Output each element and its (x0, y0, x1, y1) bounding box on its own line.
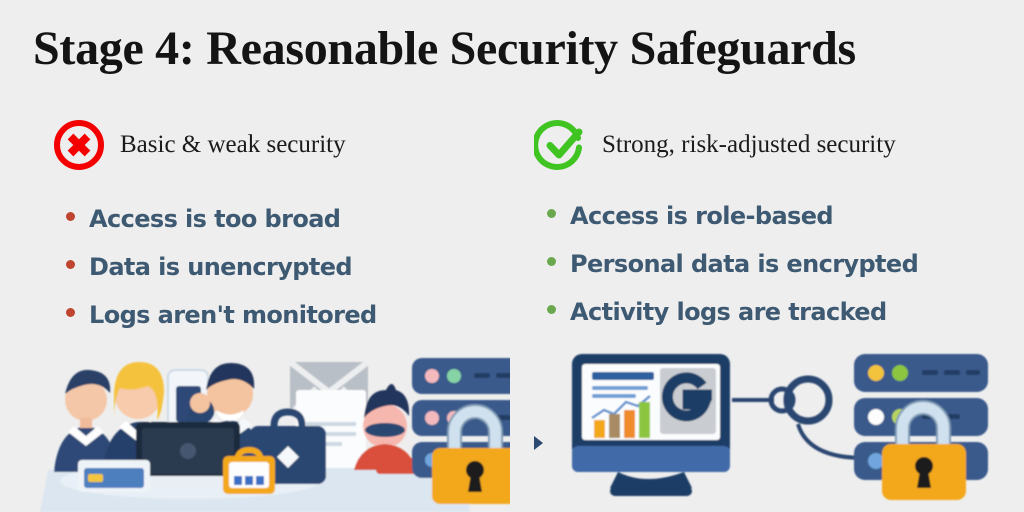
play-triangle-icon (534, 436, 543, 450)
bullet-dot-icon (547, 257, 556, 266)
list-item: Activity logs are tracked (547, 298, 918, 346)
list-item: Personal data is encrypted (547, 250, 918, 298)
bullet-label: Logs aren't monitored (89, 301, 377, 329)
bullet-dot-icon (66, 212, 75, 221)
column-header-weak: Basic & weak security (52, 118, 346, 172)
bullet-label: Access is role-based (570, 202, 833, 230)
bullet-label: Personal data is encrypted (570, 250, 918, 278)
red-circle-x-icon (52, 118, 106, 172)
list-item: Data is unencrypted (66, 253, 377, 301)
bullet-list-strong: Access is role-based Personal data is en… (547, 202, 918, 346)
column-heading-label: Basic & weak security (120, 131, 346, 159)
list-item: Access is too broad (66, 205, 377, 253)
bullet-label: Activity logs are tracked (570, 298, 887, 326)
bullet-dot-icon (547, 305, 556, 314)
bullet-dot-icon (66, 260, 75, 269)
column-header-strong: Strong, risk-adjusted security (534, 118, 896, 172)
bullet-dot-icon (66, 308, 75, 317)
slide-canvas: Stage 4: Reasonable Security Safeguards … (0, 0, 1024, 512)
bullet-list-weak: Access is too broad Data is unencrypted … (66, 205, 377, 349)
column-heading-label: Strong, risk-adjusted security (602, 131, 896, 159)
list-item: Access is role-based (547, 202, 918, 250)
bullet-dot-icon (547, 209, 556, 218)
page-title: Stage 4: Reasonable Security Safeguards (33, 20, 856, 78)
list-item: Logs aren't monitored (66, 301, 377, 349)
bullet-label: Access is too broad (89, 205, 340, 233)
people-devices-servers-lock-illustration (40, 348, 510, 512)
bullet-label: Data is unencrypted (89, 253, 352, 281)
green-circle-check-icon (534, 118, 588, 172)
monitor-dashboard-key-servers-lock-illustration (556, 348, 1024, 512)
